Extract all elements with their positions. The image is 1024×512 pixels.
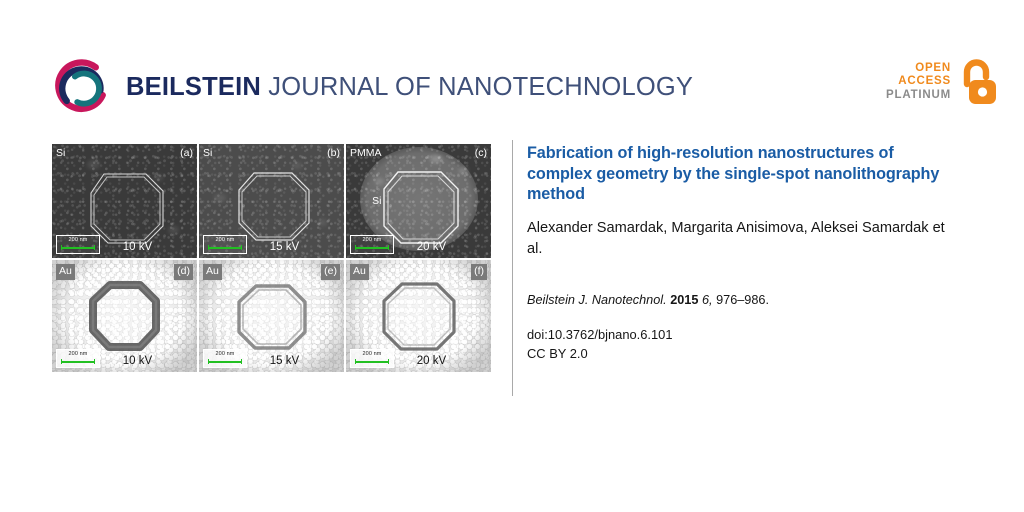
article-authors: Alexander Samardak, Margarita Anisimova,… [527, 218, 947, 260]
sem-panel-a[interactable]: Si (a) 10 kV 200 nm [52, 144, 197, 258]
open-access-line-open: OPEN [886, 62, 951, 76]
scale-bar-text: 200 nm [59, 351, 97, 358]
panel-material-label: PMMA [350, 148, 382, 159]
citation-year: 2015 [670, 293, 698, 307]
sem-panel-d[interactable]: Au (d) 10 kV 200 nm [52, 260, 197, 372]
column-divider [512, 140, 513, 396]
panel-material-label: Si [56, 148, 65, 159]
panel-material-label: Si [203, 148, 212, 159]
scale-bar-line [59, 244, 97, 251]
wordmark-beilstein: BEILSTEIN [126, 73, 261, 101]
panel-tag-label: (f) [471, 264, 487, 280]
panel-tag-label: (e) [321, 264, 340, 280]
open-access-line-access: ACCESS [886, 75, 951, 89]
scale-bar-text: 200 nm [353, 237, 391, 244]
scale-bar: 200 nm [350, 235, 394, 254]
article-doi[interactable]: doi:10.3762/bjnano.6.101 [527, 325, 947, 344]
journal-brand-lockup[interactable]: BEILSTEIN JOURNAL OF NANOTECHNOLOGY [54, 58, 693, 116]
scale-bar-line [353, 358, 391, 365]
article-license[interactable]: CC BY 2.0 [527, 344, 947, 363]
beilstein-ring-logo-icon [54, 58, 112, 116]
panel-inner-material-label: Si [372, 196, 381, 207]
article-title[interactable]: Fabrication of high-resolution nanostruc… [527, 143, 947, 205]
citation-journal: Beilstein J. Nanotechnol. [527, 293, 667, 307]
sem-panel-e[interactable]: Au (e) 15 kV 200 nm [199, 260, 344, 372]
scale-bar-line [59, 358, 97, 365]
sem-panel-c[interactable]: PMMA (c) Si 20 kV 200 nm [346, 144, 491, 258]
panel-tag-label: (b) [327, 148, 340, 159]
journal-wordmark: BEILSTEIN JOURNAL OF NANOTECHNOLOGY [126, 73, 693, 101]
citation-volume: 6, [702, 293, 713, 307]
article-citation: Beilstein J. Nanotechnol. 2015 6, 976–98… [527, 292, 947, 309]
wordmark-journal-of-nanotechnology: JOURNAL OF NANOTECHNOLOGY [261, 73, 693, 101]
scale-bar-line [206, 244, 244, 251]
sem-panel-f[interactable]: Au (f) 20 kV 200 nm [346, 260, 491, 372]
panel-tag-label: (a) [180, 148, 193, 159]
masthead: BEILSTEIN JOURNAL OF NANOTECHNOLOGY OPEN… [0, 0, 1024, 136]
article-metadata: Fabrication of high-resolution nanostruc… [527, 143, 947, 363]
scale-bar: 200 nm [203, 235, 247, 254]
panel-tag-label: (d) [174, 264, 193, 280]
scale-bar-line [206, 358, 244, 365]
open-access-line-platinum: PLATINUM [886, 89, 951, 103]
panel-material-label: Au [350, 264, 369, 280]
sem-panel-b[interactable]: Si (b) 15 kV 200 nm [199, 144, 344, 258]
scale-bar: 200 nm [350, 349, 394, 368]
panel-material-label: Au [56, 264, 75, 280]
scale-bar-text: 200 nm [59, 237, 97, 244]
scale-bar: 200 nm [56, 235, 100, 254]
panel-tag-label: (c) [475, 148, 487, 159]
scale-bar-line [353, 244, 391, 251]
open-padlock-icon [958, 58, 998, 106]
citation-pages: 976–986. [716, 293, 769, 307]
scale-bar: 200 nm [203, 349, 247, 368]
sem-figure-grid: Si (a) 10 kV 200 nm Si (b) 15 kV 200 nm [52, 144, 491, 372]
open-access-wordstack: OPEN ACCESS PLATINUM [886, 62, 951, 103]
panel-material-label: Au [203, 264, 222, 280]
scale-bar-text: 200 nm [206, 237, 244, 244]
scale-bar: 200 nm [56, 349, 100, 368]
scale-bar-text: 200 nm [206, 351, 244, 358]
scale-bar-text: 200 nm [353, 351, 391, 358]
open-access-badge[interactable]: OPEN ACCESS PLATINUM [886, 58, 998, 106]
